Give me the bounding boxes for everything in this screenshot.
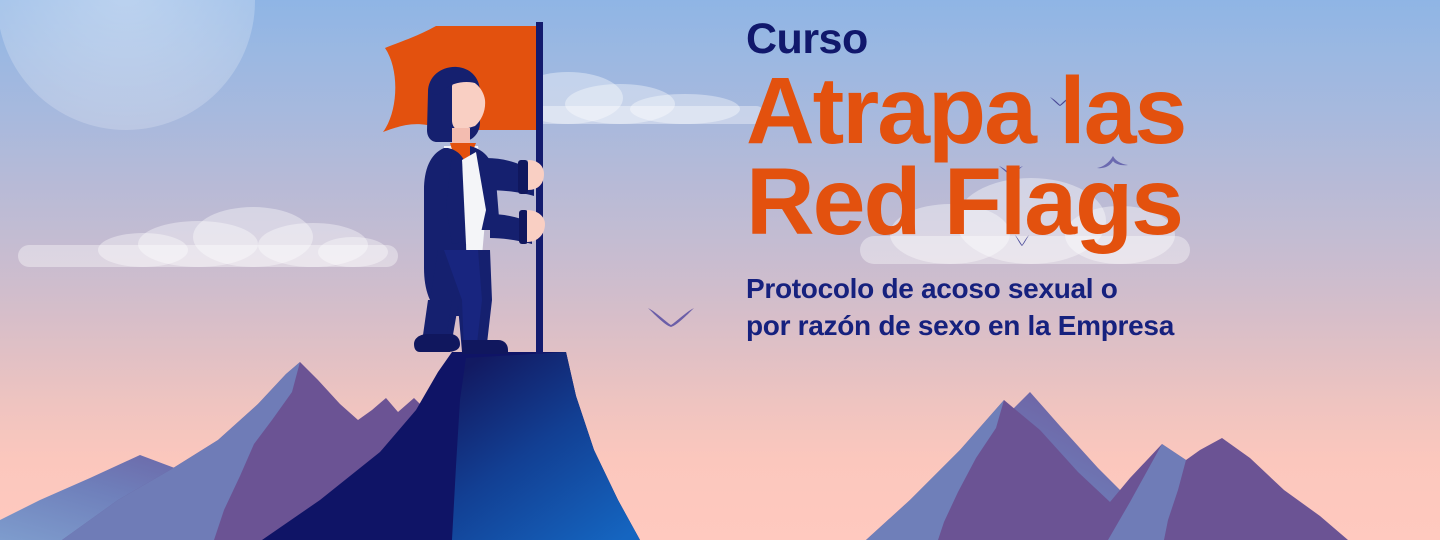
sleeve-cuff-lower <box>519 210 528 244</box>
course-title-line-2: Red Flags <box>746 154 1386 251</box>
course-promo-banner: Curso Atrapa las Red Flags Protocolo de … <box>0 0 1440 540</box>
course-title-line-1: Atrapa las <box>746 63 1386 160</box>
banner-text-block: Curso Atrapa las Red Flags Protocolo de … <box>746 18 1386 345</box>
flag-pole <box>536 22 543 354</box>
course-subtitle-line-1: Protocolo de acoso sexual o <box>746 271 1386 308</box>
course-subtitle: Protocolo de acoso sexual o por razón de… <box>746 271 1386 345</box>
shoe-front <box>462 340 508 354</box>
course-subtitle-line-2: por razón de sexo en la Empresa <box>746 308 1386 345</box>
course-kicker: Curso <box>746 18 1386 61</box>
arm-sleeve <box>486 166 520 188</box>
mountain-center-peak-lit <box>452 352 640 540</box>
sleeve-cuff <box>518 160 528 194</box>
shoe-back <box>414 334 460 352</box>
businesswoman-figure <box>383 22 545 354</box>
